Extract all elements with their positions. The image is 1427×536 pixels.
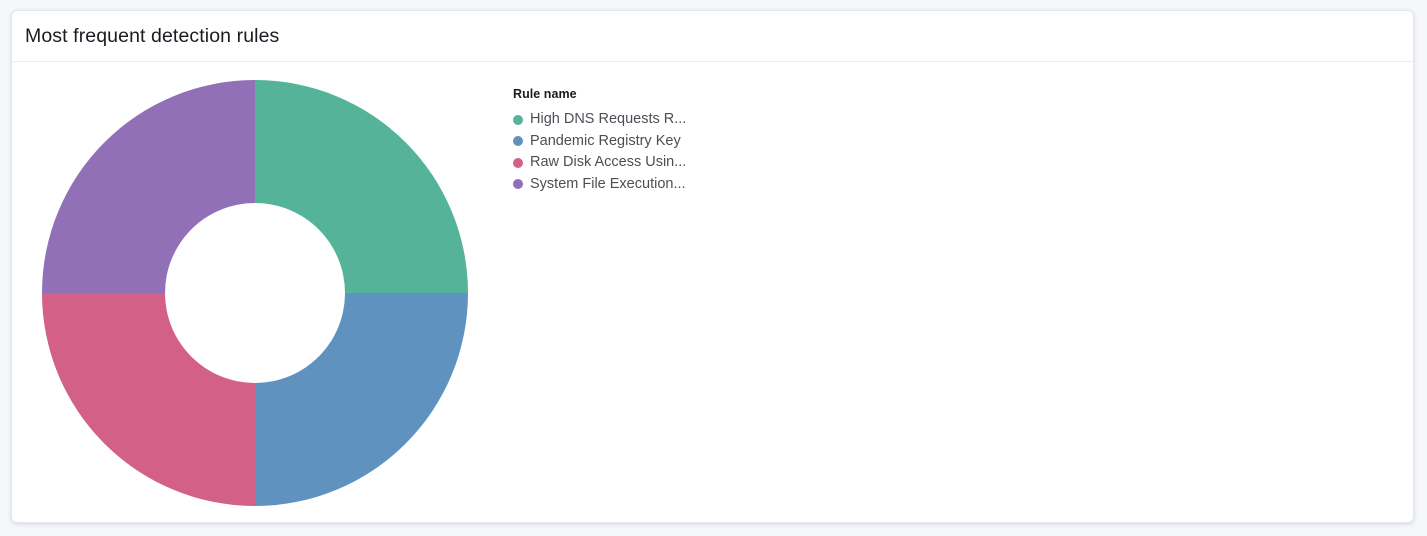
chart-legend: Rule name High DNS Requests R...Pandemic… (502, 85, 717, 195)
page-title: Most frequent detection rules (25, 23, 279, 49)
donut-slice[interactable] (42, 293, 255, 506)
legend-item-label: Pandemic Registry Key (530, 132, 681, 151)
donut-chart (41, 79, 469, 507)
donut-chart-svg (41, 79, 469, 507)
legend-swatch-icon (513, 179, 523, 189)
legend-item[interactable]: High DNS Requests R... (502, 109, 717, 131)
donut-slice[interactable] (255, 80, 468, 293)
legend-item-label: Raw Disk Access Usin... (530, 153, 686, 172)
legend-title: Rule name (513, 85, 717, 103)
panel-body: Rule name High DNS Requests R...Pandemic… (12, 63, 1413, 522)
panel-header: Most frequent detection rules (12, 11, 1413, 62)
legend-item[interactable]: Raw Disk Access Usin... (502, 152, 717, 174)
legend-list: High DNS Requests R...Pandemic Registry … (502, 109, 717, 195)
legend-item-label: High DNS Requests R... (530, 110, 686, 129)
legend-item[interactable]: Pandemic Registry Key (502, 131, 717, 153)
legend-item-label: System File Execution... (530, 175, 686, 194)
donut-slice[interactable] (42, 80, 255, 293)
legend-swatch-icon (513, 158, 523, 168)
legend-swatch-icon (513, 115, 523, 125)
detection-rules-panel: Most frequent detection rules Rule name … (11, 10, 1414, 523)
legend-swatch-icon (513, 136, 523, 146)
legend-item[interactable]: System File Execution... (502, 174, 717, 196)
donut-slice[interactable] (255, 293, 468, 506)
